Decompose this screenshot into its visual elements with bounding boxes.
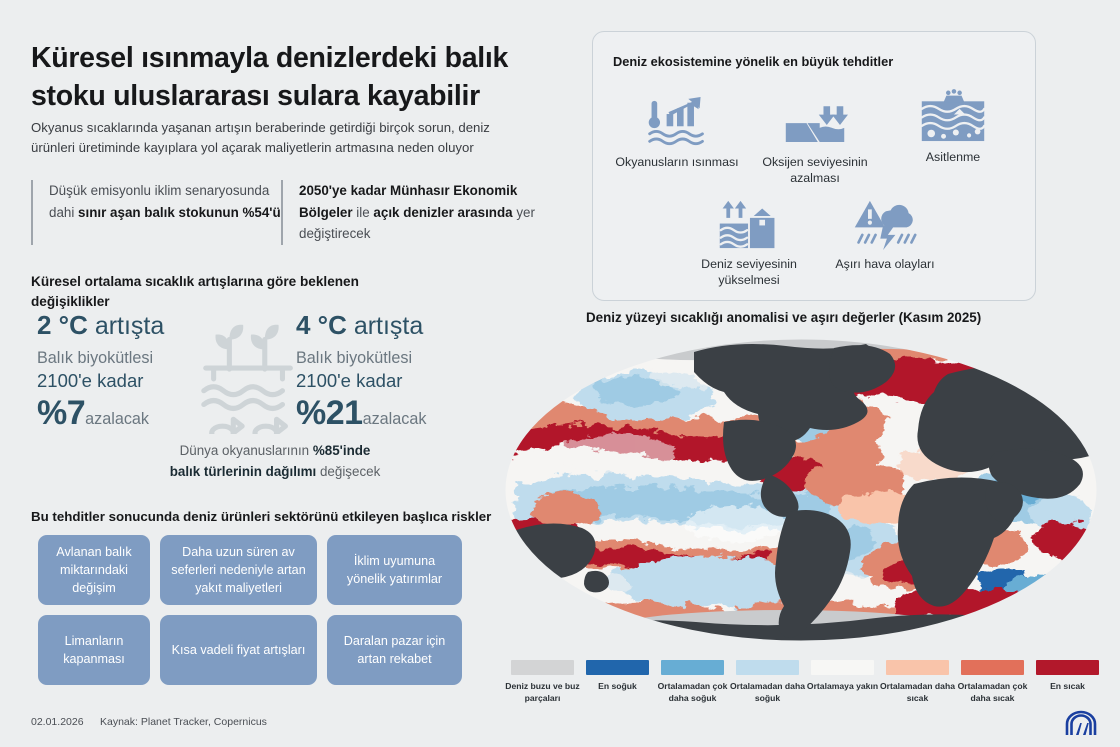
risk-item[interactable]: Limanların kapanması xyxy=(38,615,150,685)
ocean-warming-icon xyxy=(613,92,741,148)
scenario-2c-line1: Balık biyokütlesi xyxy=(37,348,212,369)
footer-source: Kaynak: Planet Tracker, Copernicus xyxy=(100,716,267,728)
risk-item[interactable]: Avlanan balık miktarındaki değişim xyxy=(38,535,150,605)
scenario-4c-temp-suffix: artışta xyxy=(354,312,423,340)
page-title: Küresel ısınmayla denizlerdeki balık sto… xyxy=(31,40,551,115)
oxygen-decline-icon xyxy=(751,92,879,148)
scenario-4c-percent-suffix: azalacak xyxy=(363,410,427,428)
legend-label: En sıcak xyxy=(1030,681,1105,693)
scenario-2c-heading: 2 °C artışta xyxy=(37,312,212,339)
legend-item: En soğuk xyxy=(580,660,655,704)
legend-item: Ortalamaya yakın xyxy=(805,660,880,704)
footer-date: 02.01.2026 xyxy=(31,716,84,728)
legend-item: En sıcak xyxy=(1030,660,1105,704)
sst-anomaly-map xyxy=(496,334,1106,646)
map-title: Deniz yüzeyi sıcaklığı anomalisi ve aşır… xyxy=(586,310,981,325)
legend-swatch xyxy=(661,660,724,675)
legend-item: Ortalamadan çok daha sıcak xyxy=(955,660,1030,704)
map-legend: Deniz buzu ve buz parçaları En soğuk Ort… xyxy=(505,660,1105,704)
risk-item[interactable]: İklim uyumuna yönelik yatırımlar xyxy=(327,535,462,605)
threats-panel: Deniz ekosistemine yönelik en büyük tehd… xyxy=(592,31,1036,301)
legend-item: Ortalamadan çok daha soğuk xyxy=(655,660,730,704)
scenario-2c-percent-row: %7azalacak xyxy=(37,394,212,433)
legend-swatch xyxy=(1036,660,1099,675)
legend-label: En soğuk xyxy=(580,681,655,693)
legend-swatch xyxy=(511,660,574,675)
risks-title: Bu tehditler sonucunda deniz ürünleri se… xyxy=(31,509,491,524)
legend-label: Ortalamadan çok daha sıcak xyxy=(955,681,1030,704)
threat-acidification[interactable]: Asitlenme xyxy=(889,87,1017,165)
legend-label: Ortalamadan çok daha soğuk xyxy=(655,681,730,704)
stat-box-1: Düşük emisyonlu iklim senaryosunda dahi … xyxy=(31,180,281,245)
legend-swatch xyxy=(736,660,799,675)
scenario-2c-temp: 2 °C xyxy=(37,310,88,340)
threat-label: Aşırı hava olayları xyxy=(821,256,949,272)
left-column: Küresel ısınmayla denizlerdeki balık sto… xyxy=(0,0,575,747)
acidification-icon xyxy=(889,87,1017,143)
temperature-section-title: Küresel ortalama sıcaklık artışlarına gö… xyxy=(31,272,361,313)
sea-level-rise-icon xyxy=(685,194,813,250)
risk-item[interactable]: Daralan pazar için artan rekabet xyxy=(327,615,462,685)
scenario-4c: 4 °C artışta Balık biyokütlesi 2100'e ka… xyxy=(296,312,471,433)
scenario-2c-line2: 2100'e kadar xyxy=(37,369,212,393)
threat-ocean-warming[interactable]: Okyanusların ısınması xyxy=(613,92,741,170)
infographic-root: Küresel ısınmayla denizlerdeki balık sto… xyxy=(0,0,1120,747)
legend-label: Deniz buzu ve buz parçaları xyxy=(505,681,580,704)
threat-sea-level-rise[interactable]: Deniz seviyesinin yükselmesi xyxy=(685,194,813,288)
scenario-2c-temp-suffix: artışta xyxy=(95,312,164,340)
threat-label: Okyanusların ısınması xyxy=(613,154,741,170)
threats-title: Deniz ekosistemine yönelik en büyük tehd… xyxy=(613,54,893,69)
aa-logo xyxy=(1063,707,1099,737)
scenario-2c-percent-suffix: azalacak xyxy=(85,410,149,428)
legend-label: Ortalamaya yakın xyxy=(805,681,880,693)
legend-swatch xyxy=(586,660,649,675)
risk-item[interactable]: Daha uzun süren av seferleri nedeniyle a… xyxy=(160,535,317,605)
legend-label: Ortalamadan daha sıcak xyxy=(880,681,955,704)
legend-swatch xyxy=(811,660,874,675)
threat-label: Deniz seviyesinin yükselmesi xyxy=(685,256,813,288)
legend-label: Ortalamadan daha soğuk xyxy=(730,681,805,704)
scenario-2c-percent: %7 xyxy=(37,394,85,432)
legend-swatch xyxy=(886,660,949,675)
threat-label: Oksijen seviyesinin azalması xyxy=(751,154,879,186)
distribution-note: Dünya okyanuslarının %85'indebalık türle… xyxy=(110,440,440,483)
scenario-2c: 2 °C artışta Balık biyokütlesi 2100'e ka… xyxy=(37,312,212,433)
legend-item: Ortalamadan daha sıcak xyxy=(880,660,955,704)
scenario-4c-line2: 2100'e kadar xyxy=(296,369,471,393)
risks-grid: Avlanan balık miktarındaki değişim Daha … xyxy=(38,535,463,685)
page-subtitle: Okyanus sıcaklarında yaşanan artışın ber… xyxy=(31,118,536,159)
threat-label: Asitlenme xyxy=(889,149,1017,165)
extreme-weather-icon xyxy=(821,194,949,250)
seagrass-fish-icon xyxy=(192,316,310,434)
scenario-4c-heading: 4 °C artışta xyxy=(296,312,471,339)
legend-swatch xyxy=(961,660,1024,675)
legend-item: Deniz buzu ve buz parçaları xyxy=(505,660,580,704)
threat-extreme-weather[interactable]: Aşırı hava olayları xyxy=(821,194,949,272)
threat-oxygen-decline[interactable]: Oksijen seviyesinin azalması xyxy=(751,92,879,186)
scenario-4c-line1: Balık biyokütlesi xyxy=(296,348,471,369)
stat-row: Düşük emisyonlu iklim senaryosunda dahi … xyxy=(31,180,546,245)
risk-item[interactable]: Kısa vadeli fiyat artışları xyxy=(160,615,317,685)
legend-item: Ortalamadan daha soğuk xyxy=(730,660,805,704)
stat-box-2: 2050'ye kadar Münhasır Ekonomik Bölgeler… xyxy=(281,180,546,245)
scenario-4c-percent-row: %21azalacak xyxy=(296,394,471,433)
